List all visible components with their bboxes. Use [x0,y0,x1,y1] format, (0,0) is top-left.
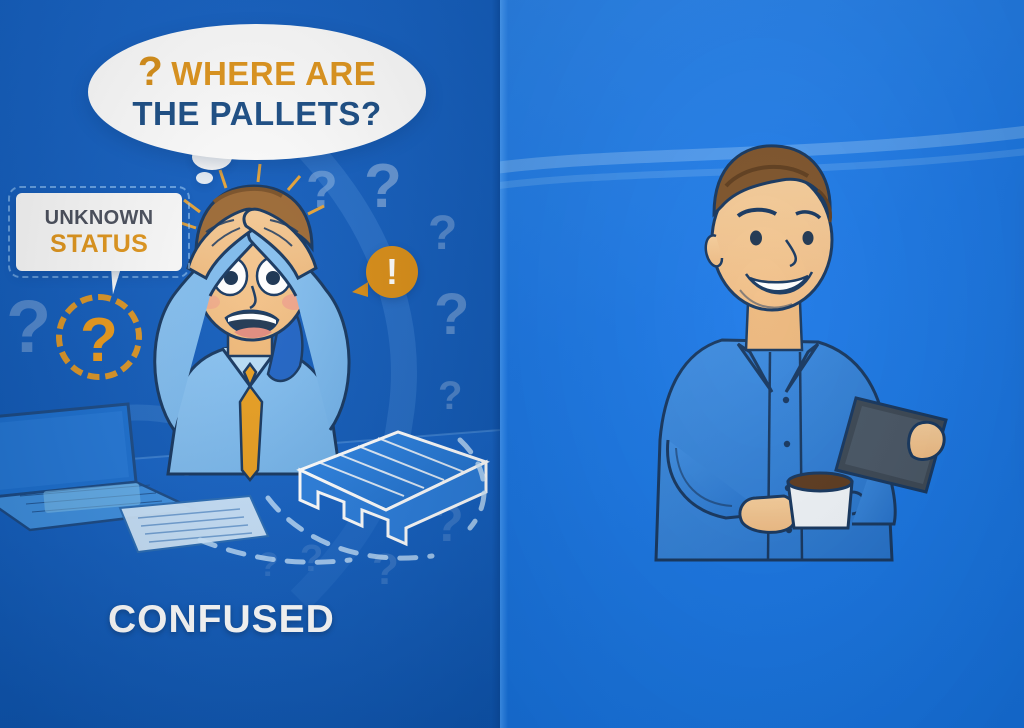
ring-question-glyph: ? [80,305,118,376]
status-callout-line1: UNKNOWN [45,206,154,230]
illustration-canvas: ???????????? [0,0,1024,728]
panel-divider-shadow [492,0,500,728]
unknown-status-callout: UNKNOWN STATUS [16,193,182,271]
bubble-line-2: THE PALLETS? [132,94,381,134]
left-panel-confused: ???????????? [0,0,500,728]
left-panel-caption: CONFUSED [108,598,335,642]
status-callout-line2: STATUS [50,230,148,258]
panel-divider-highlight [500,0,508,728]
exclamation-badge-tail [352,282,368,297]
thought-bubble-dot-small [196,172,213,184]
exclamation-icon: ! [366,246,418,298]
bubble-line-1: ?WHERE ARE [138,51,377,94]
bubble-line-1-text: WHERE ARE [171,55,376,92]
status-callout-tail [111,268,123,295]
smiling-manager [656,146,946,560]
question-mark-glyph-icon: ? [138,48,164,94]
exclamation-glyph: ! [386,254,398,290]
right-panel-asset-management: ASSET MANGEMENT [500,0,1024,728]
where-are-pallets-thought-bubble: ?WHERE ARE THE PALLETS? [88,24,426,160]
asset-management-scene-illustration [500,0,1024,728]
